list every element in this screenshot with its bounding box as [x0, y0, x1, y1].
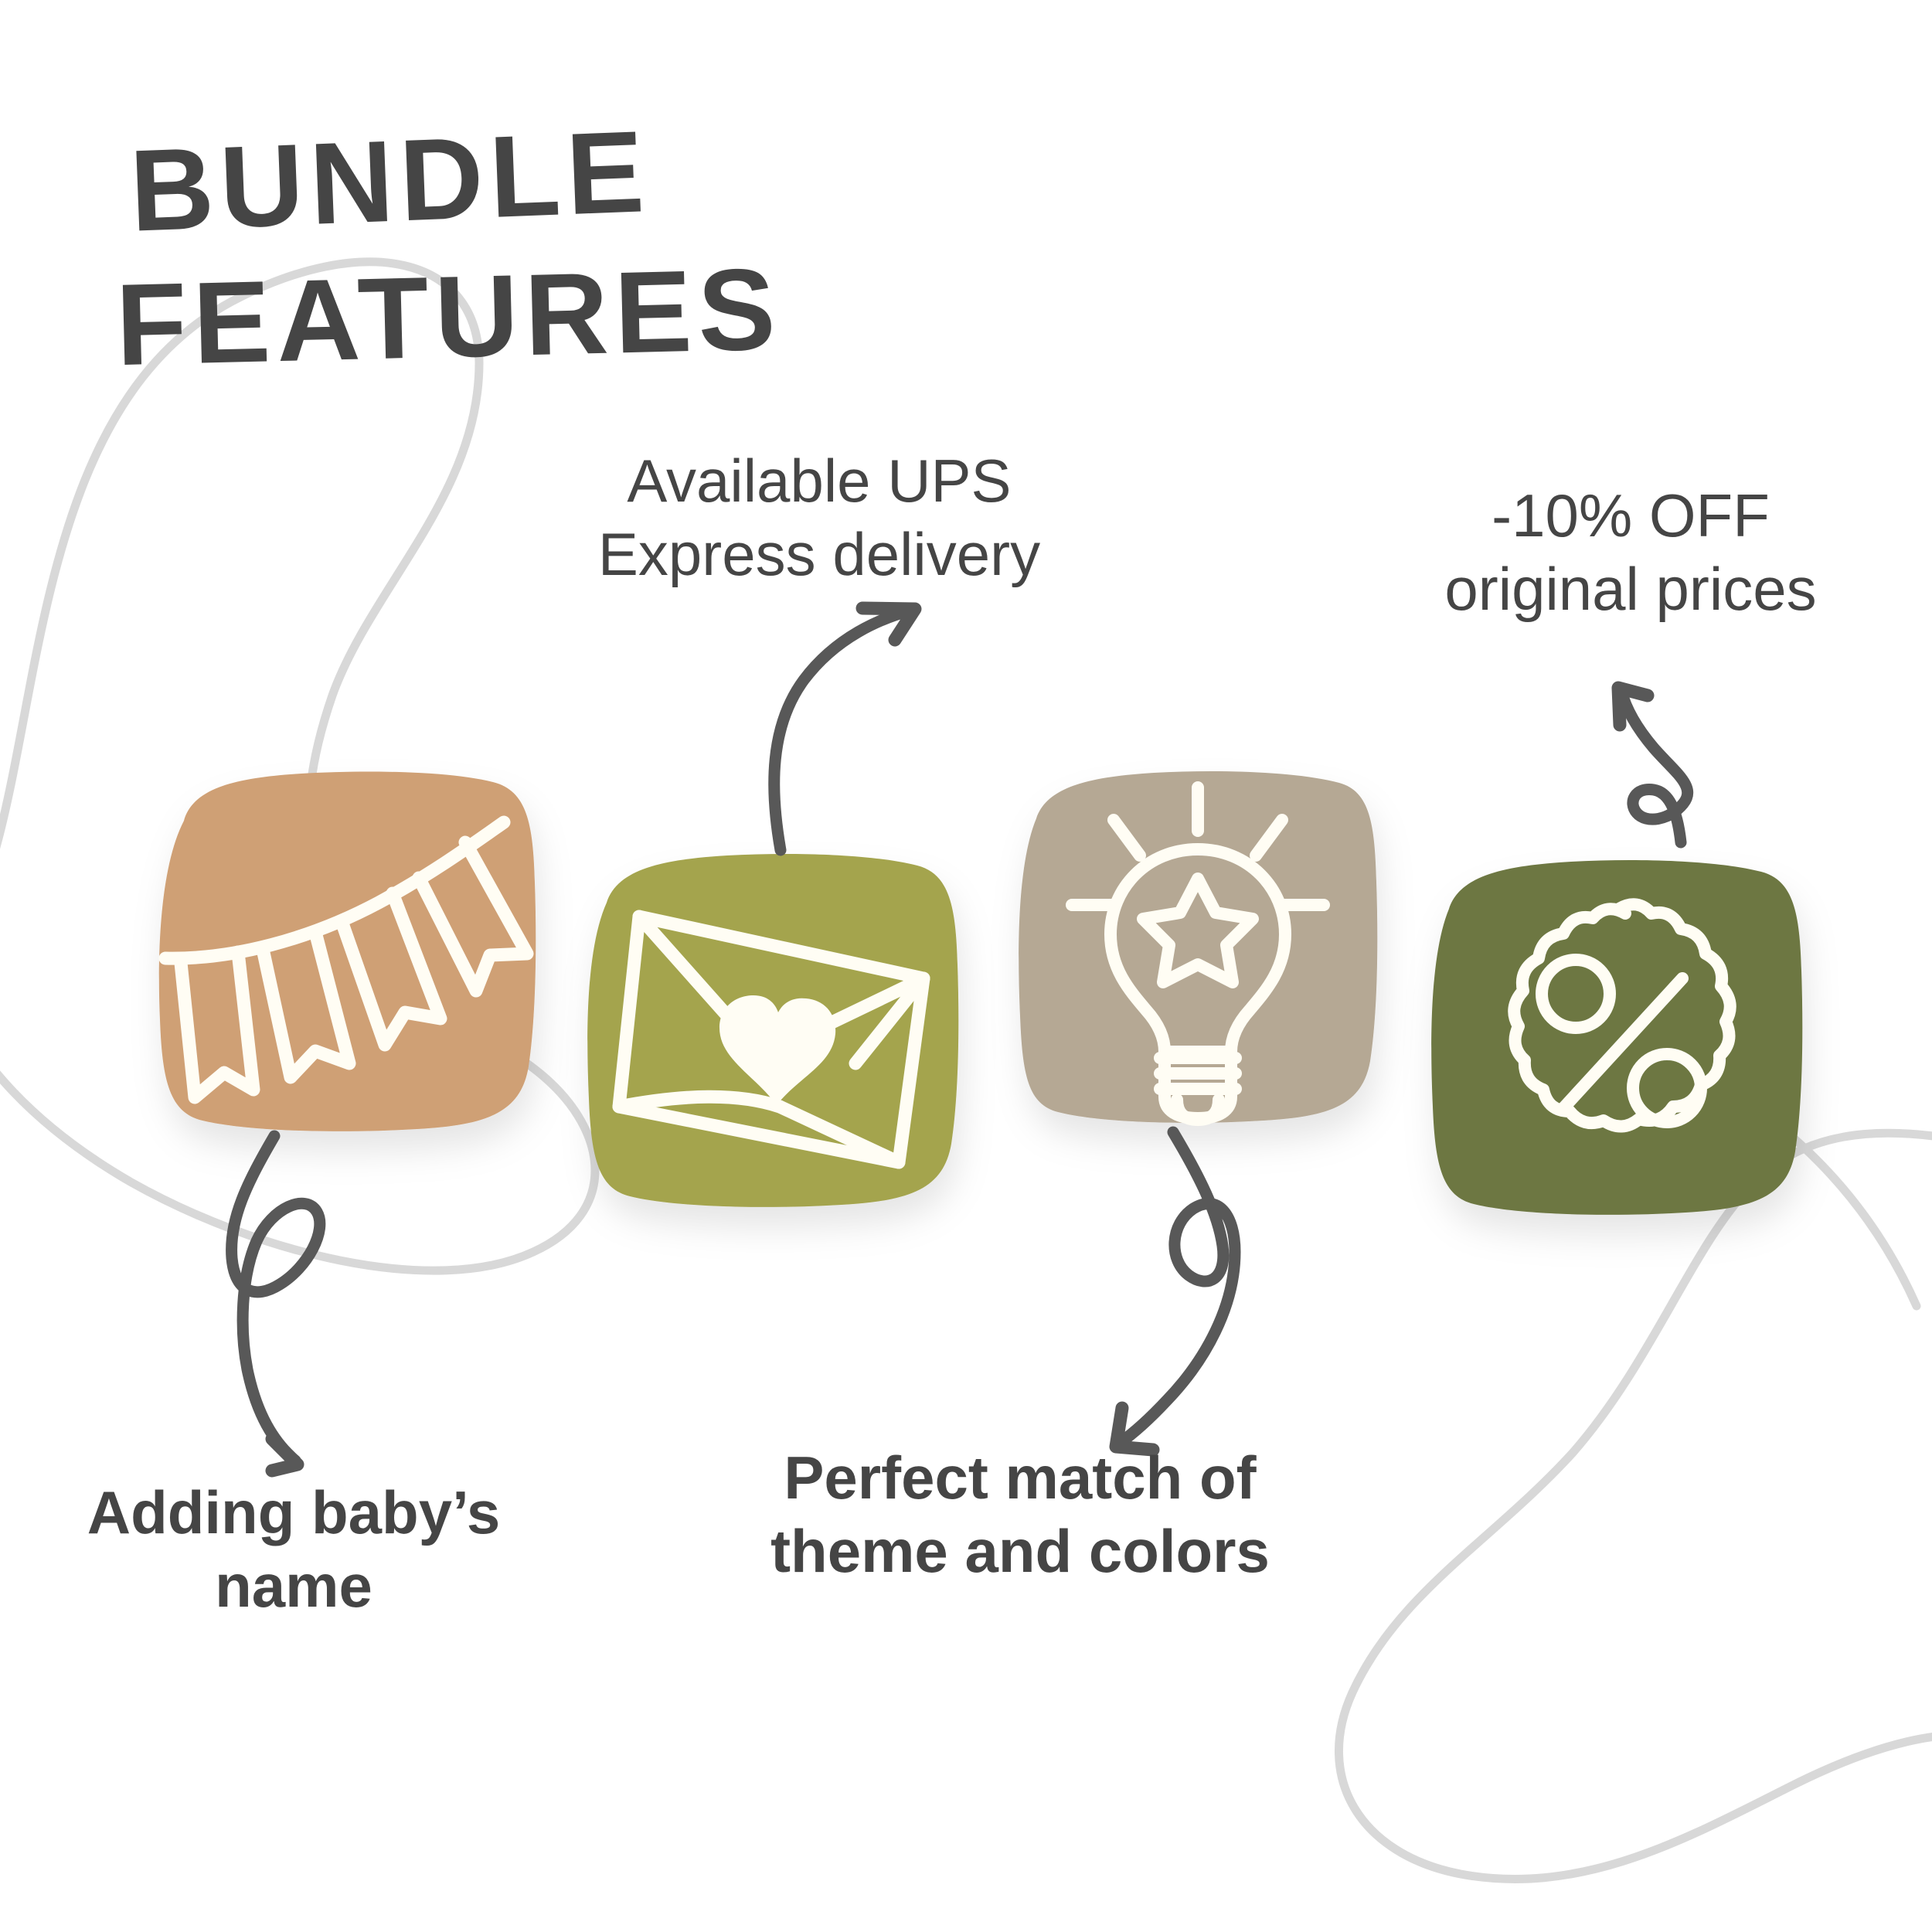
text-layer: Bundle Features Available UPS Express de… — [0, 0, 1932, 1932]
page-title-line-1: Bundle — [128, 101, 890, 252]
caption-baby-name: Adding baby’s name — [0, 1476, 587, 1623]
caption-theme-match: Perfect match of theme and colors — [680, 1441, 1360, 1588]
bundle-features-infographic: Bundle Features Available UPS Express de… — [0, 0, 1932, 1932]
page-title-line-2: Features — [114, 245, 890, 386]
caption-ups-delivery: Available UPS Express delivery — [526, 444, 1113, 591]
caption-discount: -10% OFF original prices — [1337, 479, 1924, 626]
page-title: Bundle Features — [116, 116, 889, 376]
